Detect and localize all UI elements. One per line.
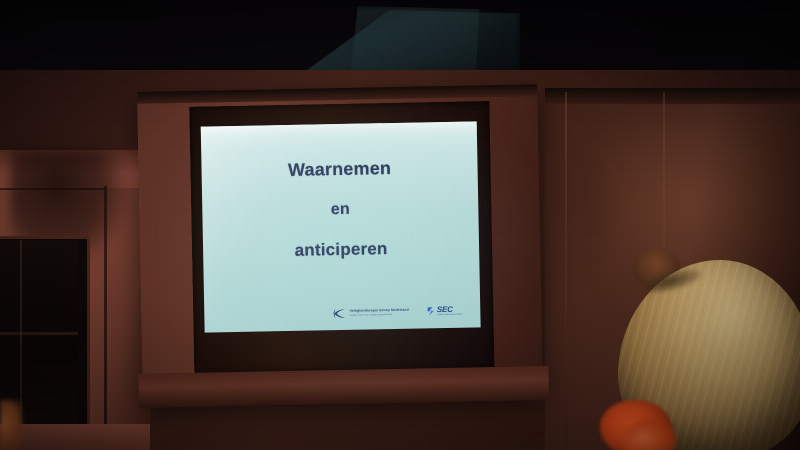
projection-screen-assembly: Waarnemen en anticiperen Veiligheidsregi…	[137, 84, 543, 404]
veiligheidsregio-logo-subtitle: Samen voor een veilige samenleving	[350, 313, 409, 317]
sec-logo: SEC Safety Expertise Centre	[427, 306, 463, 317]
swoosh-icon	[334, 308, 347, 319]
baseboard	[0, 424, 150, 450]
foreground-orange-blur	[0, 400, 22, 450]
veiligheidsregio-logo: Veiligheidsregio Groep Nederland Samen v…	[334, 307, 409, 319]
slide-text-block: Waarnemen en anticiperen	[201, 121, 480, 296]
sec-logo-subtitle: Safety Expertise Centre	[437, 314, 462, 317]
veiligheidsregio-logo-text: Veiligheidsregio Groep Nederland Samen v…	[350, 309, 409, 317]
wall-right-top-shadow	[545, 88, 800, 104]
photo-canvas: Waarnemen en anticiperen Veiligheidsregi…	[0, 0, 800, 450]
projected-slide: Waarnemen en anticiperen Veiligheidsregi…	[201, 121, 481, 332]
slide-logo-row: Veiligheidsregio Groep Nederland Samen v…	[204, 305, 480, 321]
sec-logo-text: SEC Safety Expertise Centre	[437, 306, 463, 317]
slide-line-2: en	[331, 200, 350, 218]
audience-member	[600, 252, 800, 450]
slide-line-3: anticiperen	[294, 239, 387, 261]
slide-line-1: Waarnemen	[288, 158, 392, 181]
wall-panel-seam	[565, 92, 567, 450]
sec-chevron-icon	[427, 307, 436, 317]
door-rail	[0, 332, 78, 335]
